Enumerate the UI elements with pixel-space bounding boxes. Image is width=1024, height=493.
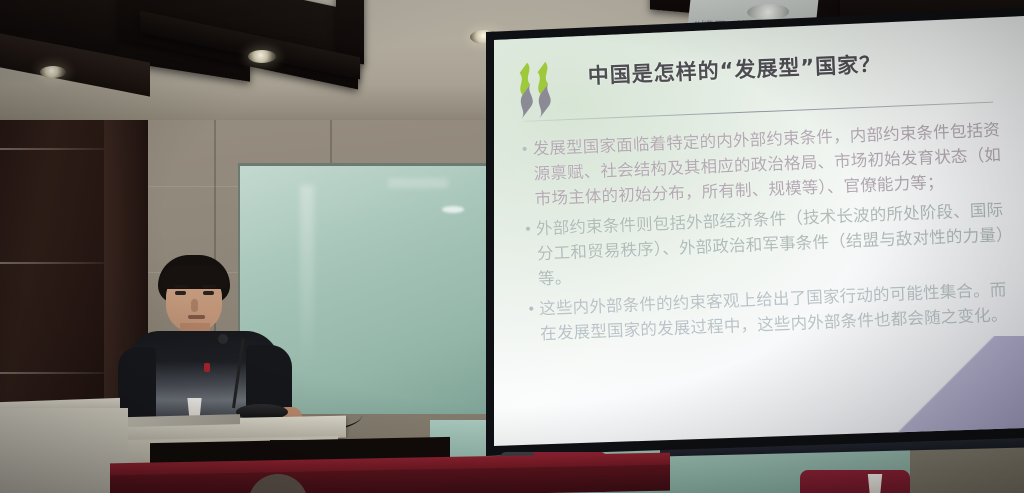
slide-bullet-item: • 发展型国家面临着特定的内外部约束条件，内部约束条件包括资源禀赋、社会结构及其…: [516, 117, 1019, 212]
wood-seam: [0, 262, 104, 264]
bullet-text: 外部约束条件则包括外部经济条件（技术长波的所处阶段、国际分工和贸易秩序）、外部政…: [536, 197, 1023, 292]
slide-title: 中国是怎样的“发展型”国家？: [587, 43, 1008, 90]
hair-fringe: [160, 265, 228, 289]
screenshot-stage: 的“展型” 中国是怎样的“发展型”国家？: [0, 0, 1024, 493]
microphone-head-icon: [218, 334, 228, 344]
projection-screen: 中国是怎样的“发展型”国家？ • 发展型国家面临着特定的内外部约束条件，内部约束…: [470, 8, 1024, 456]
nose: [191, 299, 198, 312]
slide-bullet-item: • 外部约束条件则包括外部经济条件（技术长波的所处阶段、国际分工和贸易秩序）、外…: [520, 197, 1023, 292]
slide-content: 中国是怎样的“发展型”国家？ • 发展型国家面临着特定的内外部约束条件，内部约束…: [494, 13, 1024, 432]
bullet-text: 发展型国家面临着特定的内外部约束条件，内部约束条件包括资源禀赋、社会结构及其相应…: [532, 117, 1019, 212]
wood-seam: [0, 372, 104, 374]
office-copier: [0, 408, 128, 493]
eye: [175, 291, 186, 295]
downlight-icon: [248, 50, 276, 63]
eyebrow: [174, 285, 188, 288]
lapel-badge: [204, 363, 210, 372]
whiteboard-glint: [442, 206, 464, 213]
double-chevron-logo-icon: [517, 59, 565, 121]
whiteboard-smudge: [388, 178, 448, 188]
chair: [800, 470, 910, 493]
downlight-icon: [40, 66, 66, 78]
slide-surface: 中国是怎样的“发展型”国家？ • 发展型国家面临着特定的内外部约束条件，内部约束…: [470, 8, 1024, 456]
mouth: [188, 315, 205, 319]
title-divider: [524, 102, 994, 122]
eye: [203, 291, 214, 295]
wood-seam: [0, 148, 104, 150]
spill-light-oval: [746, 4, 790, 20]
eyebrow: [202, 285, 216, 288]
slide-bullet-list: • 发展型国家面临着特定的内外部约束条件，内部约束条件包括资源禀赋、社会结构及其…: [516, 117, 1024, 352]
